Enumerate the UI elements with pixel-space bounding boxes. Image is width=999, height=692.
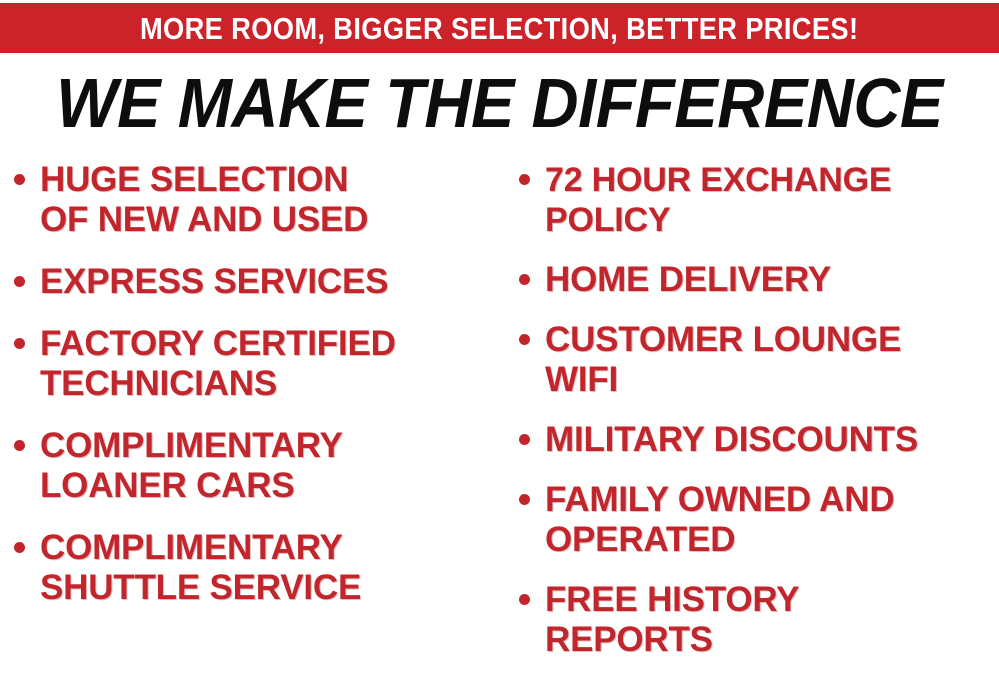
list-item-label: COMPLIMENTARY LOANER CARS: [40, 426, 500, 506]
list-item-label: MILITARY DISCOUNTS: [545, 420, 999, 460]
bullet-dot-icon: [519, 494, 530, 505]
list-item: FACTORY CERTIFIED TECHNICIANS: [14, 324, 500, 404]
list-item: EXPRESS SERVICES: [14, 262, 500, 302]
features-columns: HUGE SELECTION OF NEW AND USED EXPRESS S…: [0, 160, 999, 692]
list-item: FREE HISTORY REPORTS: [519, 580, 999, 660]
top-banner-strip: MORE ROOM, BIGGER SELECTION, BETTER PRIC…: [0, 3, 999, 53]
list-item: COMPLIMENTARY SHUTTLE SERVICE: [14, 528, 500, 608]
promotional-banner: MORE ROOM, BIGGER SELECTION, BETTER PRIC…: [0, 0, 999, 692]
list-item-label: 72 HOUR EXCHANGE POLICY: [545, 160, 999, 240]
list-item: COMPLIMENTARY LOANER CARS: [14, 426, 500, 506]
list-item: FAMILY OWNED AND OPERATED: [519, 480, 999, 560]
list-item-label: FAMILY OWNED AND OPERATED: [545, 480, 999, 560]
list-item: 72 HOUR EXCHANGE POLICY: [519, 160, 999, 240]
bullet-dot-icon: [519, 174, 530, 185]
list-item: MILITARY DISCOUNTS: [519, 420, 999, 460]
bullet-dot-icon: [14, 276, 25, 287]
list-item-label: FREE HISTORY REPORTS: [545, 580, 999, 660]
bullet-dot-icon: [14, 338, 25, 349]
bullet-dot-icon: [519, 594, 530, 605]
list-item-label: FACTORY CERTIFIED TECHNICIANS: [40, 324, 500, 404]
list-item-label: HUGE SELECTION OF NEW AND USED: [40, 160, 500, 240]
list-item: HUGE SELECTION OF NEW AND USED: [14, 160, 500, 240]
bullet-dot-icon: [519, 274, 530, 285]
top-banner-text: MORE ROOM, BIGGER SELECTION, BETTER PRIC…: [140, 13, 858, 44]
bullet-dot-icon: [14, 440, 25, 451]
list-item-label: HOME DELIVERY: [545, 260, 999, 300]
features-column-right: 72 HOUR EXCHANGE POLICY HOME DELIVERY CU…: [519, 160, 999, 692]
list-item-label: EXPRESS SERVICES: [40, 262, 500, 302]
bullet-dot-icon: [14, 174, 25, 185]
bullet-dot-icon: [519, 434, 530, 445]
list-item: CUSTOMER LOUNGE WIFI: [519, 320, 999, 400]
bullet-dot-icon: [519, 334, 530, 345]
bullet-dot-icon: [14, 542, 25, 553]
list-item-label: COMPLIMENTARY SHUTTLE SERVICE: [40, 528, 500, 608]
list-item-label: CUSTOMER LOUNGE WIFI: [545, 320, 999, 400]
features-column-left: HUGE SELECTION OF NEW AND USED EXPRESS S…: [14, 160, 500, 692]
list-item: HOME DELIVERY: [519, 260, 999, 300]
page-title: WE MAKE THE DIFFERENCE: [35, 68, 964, 138]
